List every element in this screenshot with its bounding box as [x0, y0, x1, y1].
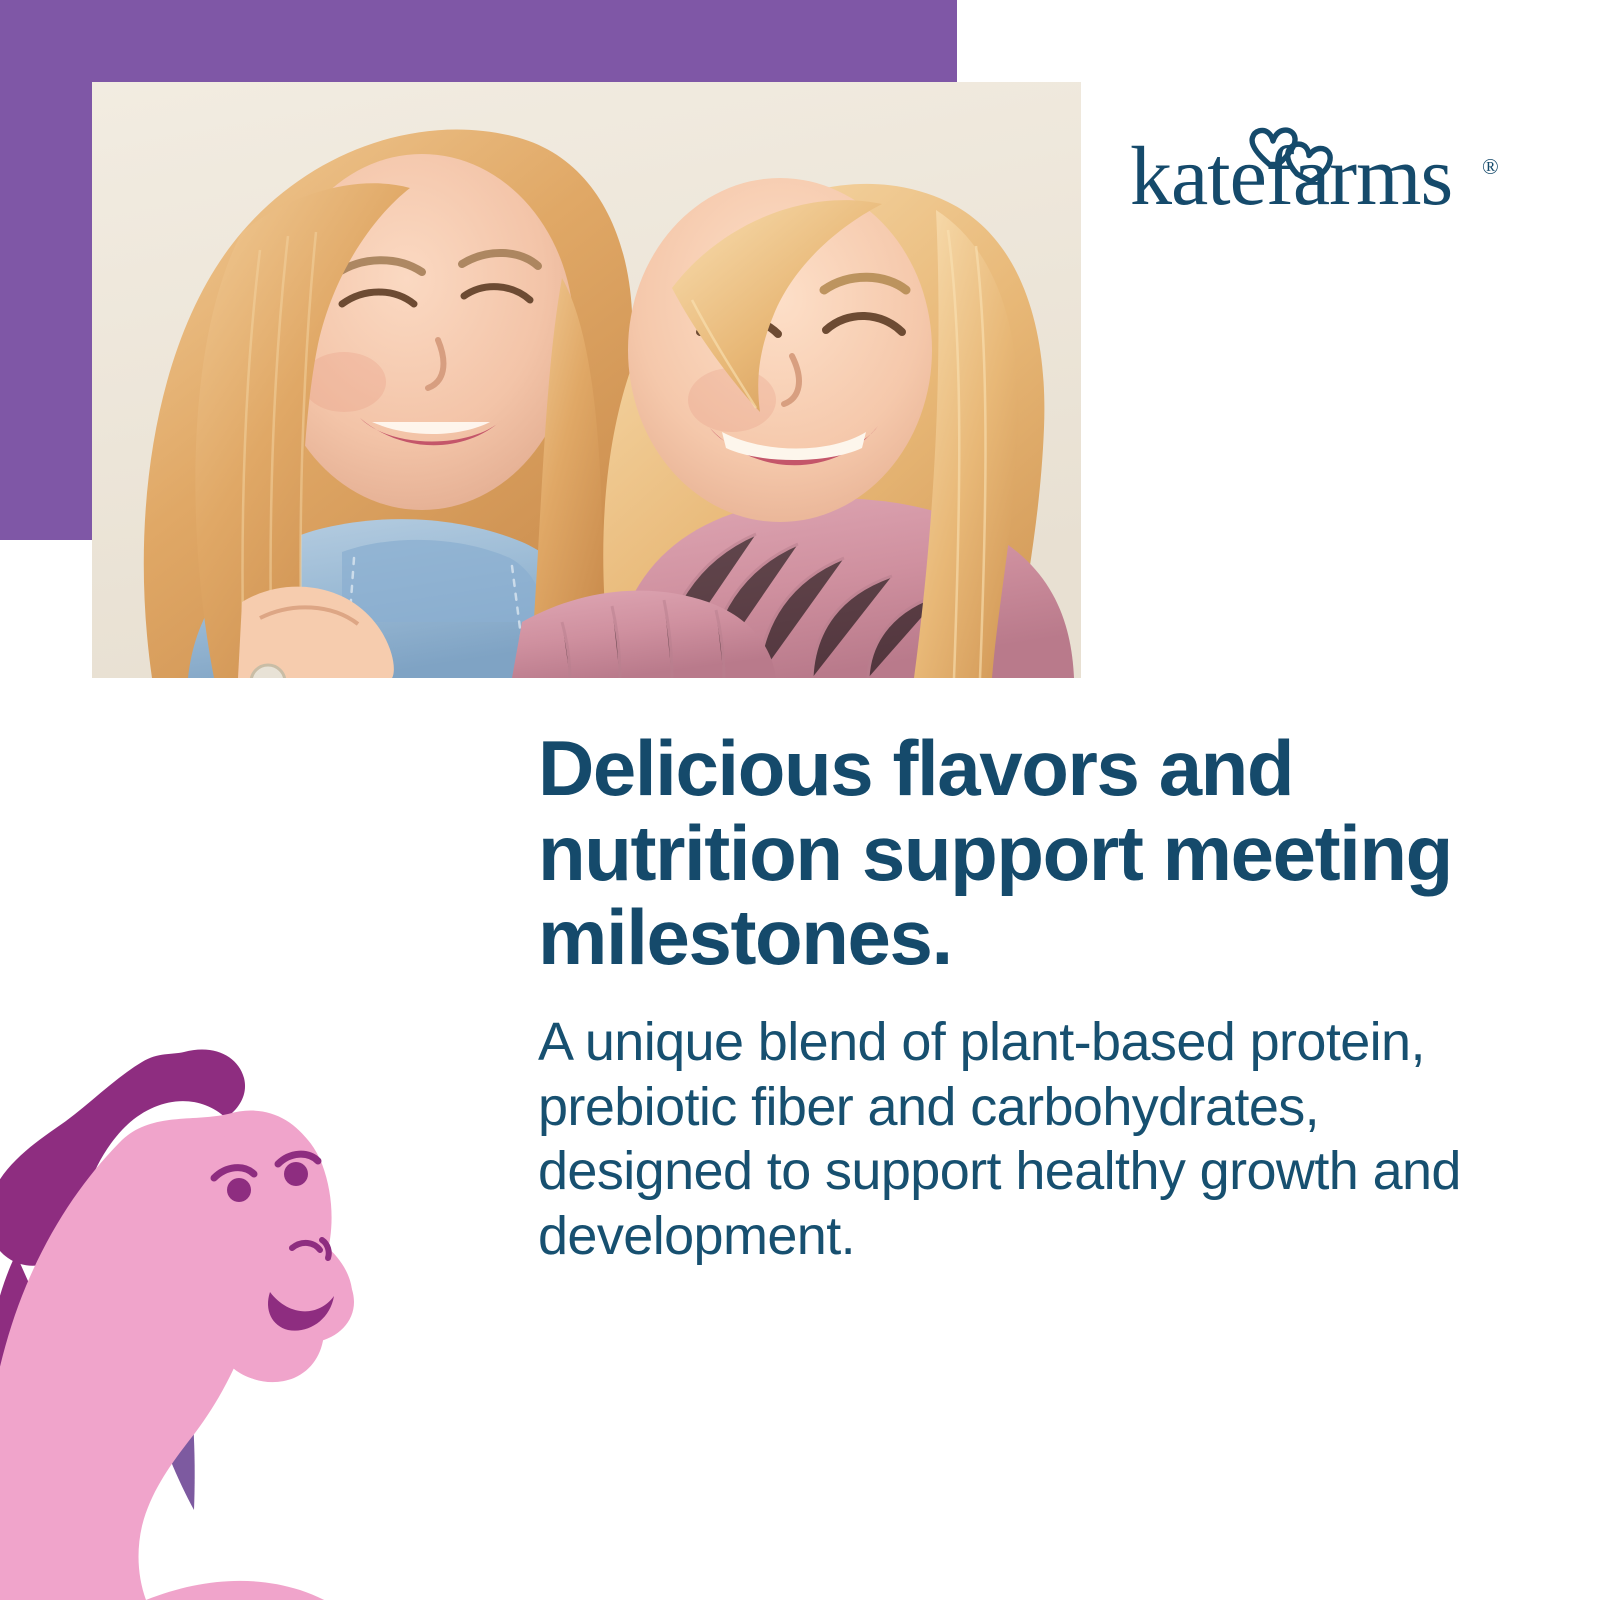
copy-block: Delicious flavors and nutrition support …	[538, 726, 1478, 1269]
katefarms-logo[interactable]: katefarms ®	[1130, 118, 1512, 218]
hero-photo	[92, 82, 1081, 678]
page-headline: Delicious flavors and nutrition support …	[538, 726, 1478, 980]
body-paragraph: A unique blend of plant-based protein, p…	[538, 1010, 1478, 1269]
logo-wordmark: katefarms	[1130, 130, 1452, 218]
dino-eye-right	[284, 1162, 308, 1186]
dino-eye-left	[227, 1178, 251, 1202]
hero-photo-illustration	[92, 82, 1081, 678]
marketing-card: katefarms ® Delicious flavors and nutrit…	[0, 0, 1600, 1600]
katefarms-logo-svg: katefarms ®	[1130, 118, 1512, 218]
logo-trademark: ®	[1482, 154, 1499, 179]
pink-dinosaur-mascot	[0, 1018, 502, 1600]
dinosaur-illustration	[0, 1018, 502, 1600]
